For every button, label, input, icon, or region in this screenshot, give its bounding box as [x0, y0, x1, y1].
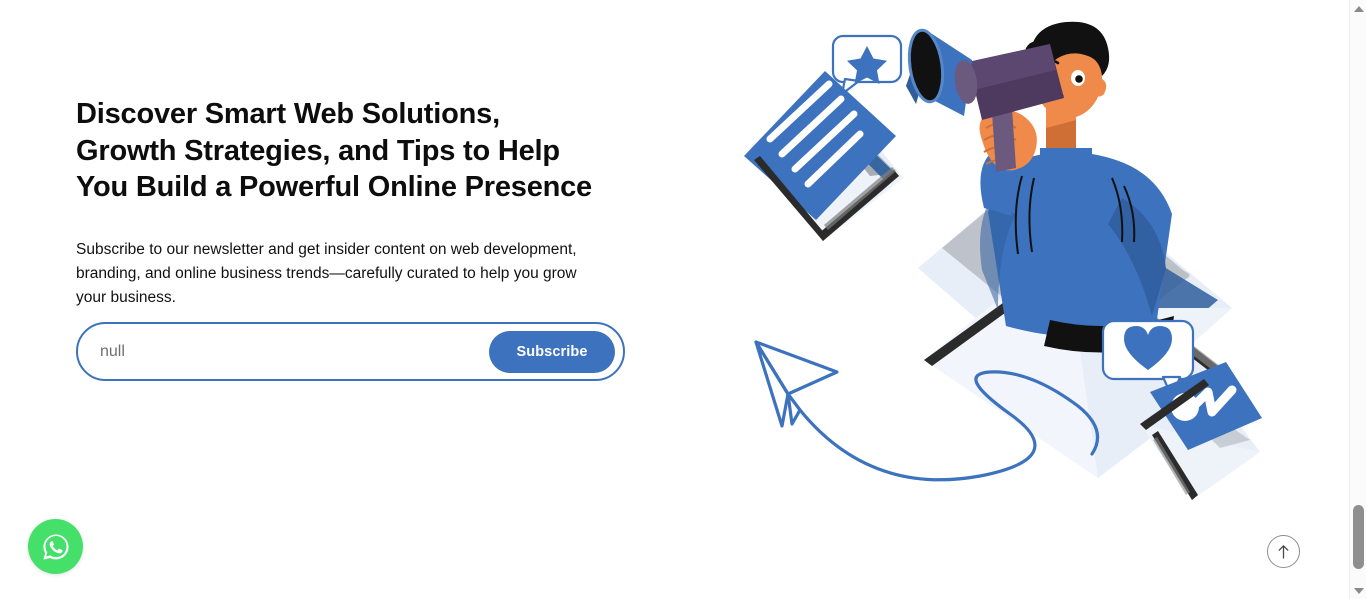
whatsapp-icon	[39, 530, 73, 564]
triangle-down-icon	[1354, 588, 1364, 594]
star-speech-bubble-icon	[833, 36, 901, 94]
hero-text-column: Discover Smart Web Solutions, Growth Str…	[76, 96, 636, 310]
scrollbar-down-arrow[interactable]	[1350, 582, 1366, 599]
hero-subcopy: Subscribe to our newsletter and get insi…	[76, 238, 588, 310]
scrollbar-up-arrow[interactable]	[1350, 0, 1366, 17]
scrollbar-thumb[interactable]	[1353, 505, 1364, 569]
page-title: Discover Smart Web Solutions, Growth Str…	[76, 96, 606, 206]
whatsapp-float-button[interactable]	[28, 519, 83, 574]
arrow-up-icon	[1276, 543, 1291, 560]
subscribe-button[interactable]: Subscribe	[489, 331, 615, 373]
page-root: Discover Smart Web Solutions, Growth Str…	[0, 0, 1366, 599]
scroll-to-top-button[interactable]	[1267, 535, 1300, 568]
scrollbar-track[interactable]	[1350, 17, 1366, 582]
subscribe-form[interactable]: Subscribe	[76, 322, 625, 381]
newsletter-illustration	[720, 8, 1300, 528]
character-illustration	[905, 22, 1174, 353]
triangle-up-icon	[1354, 6, 1364, 12]
vertical-scrollbar[interactable]	[1349, 0, 1366, 599]
email-input[interactable]	[78, 325, 489, 378]
small-envelope-with-letter-icon	[744, 71, 903, 241]
